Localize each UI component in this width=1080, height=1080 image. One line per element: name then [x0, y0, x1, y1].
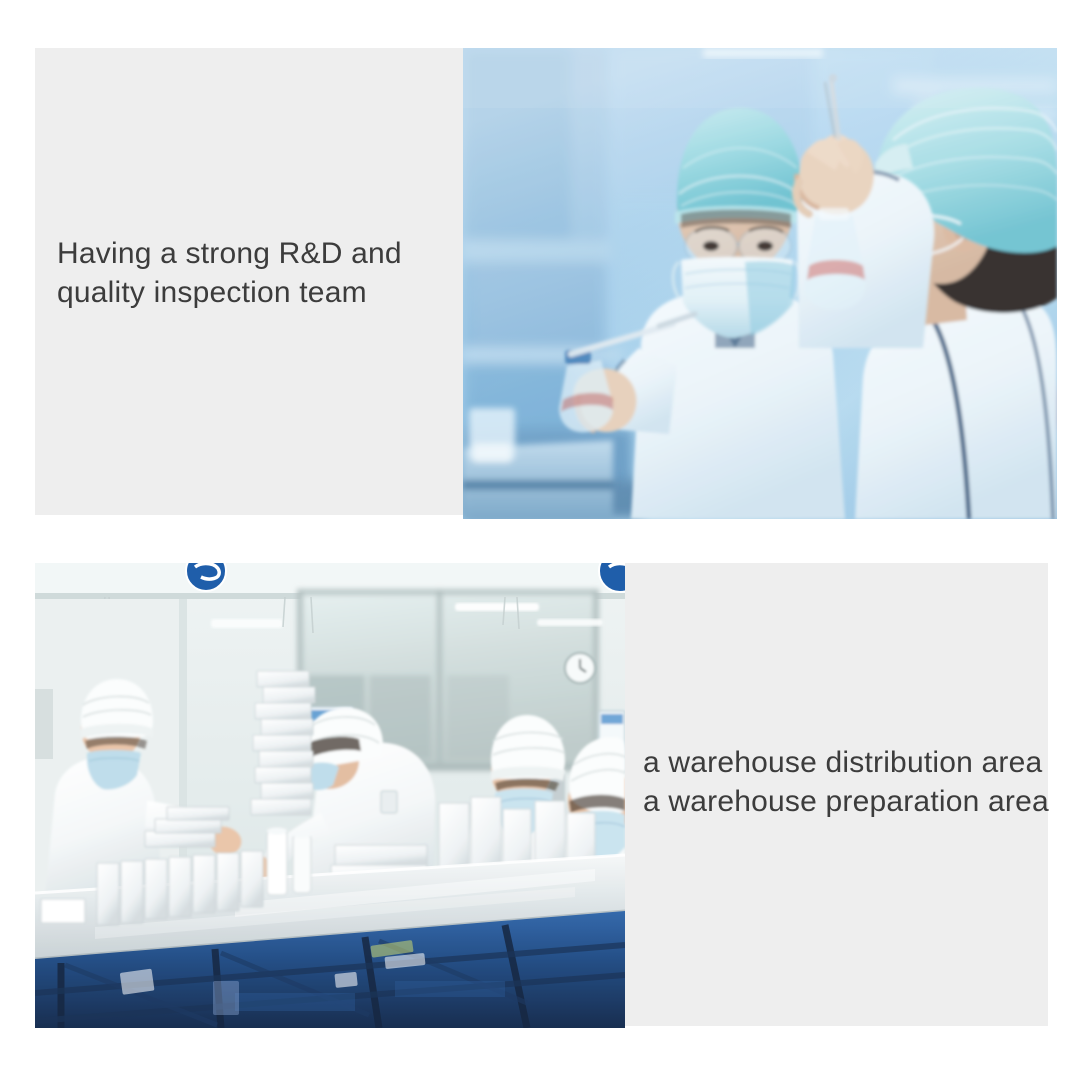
caption-panel-left: Having a strong R&D and quality inspecti… [35, 48, 463, 515]
lab-technicians-photo-svg [463, 48, 1057, 519]
caption-line-1: a warehouse distribution area [643, 743, 1048, 782]
warehouse-packing-photo [35, 563, 625, 1028]
caption-line-1: Having a strong R&D and [57, 234, 457, 273]
warehouse-packing-photo-svg [35, 563, 625, 1028]
caption-text-warehouse: a warehouse distribution area a warehous… [643, 743, 1048, 821]
caption-panel-right: a warehouse distribution area a warehous… [625, 563, 1048, 1026]
caption-line-2: a warehouse preparation area [643, 782, 1048, 821]
caption-line-2: quality inspection team [57, 273, 457, 312]
page-root: Having a strong R&D and quality inspecti… [0, 0, 1080, 1080]
section-rnd-quality-team: Having a strong R&D and quality inspecti… [35, 48, 1057, 519]
lab-technicians-photo [463, 48, 1057, 519]
section-warehouse-areas: a warehouse distribution area a warehous… [35, 563, 1048, 1028]
caption-text-rnd: Having a strong R&D and quality inspecti… [57, 234, 457, 312]
